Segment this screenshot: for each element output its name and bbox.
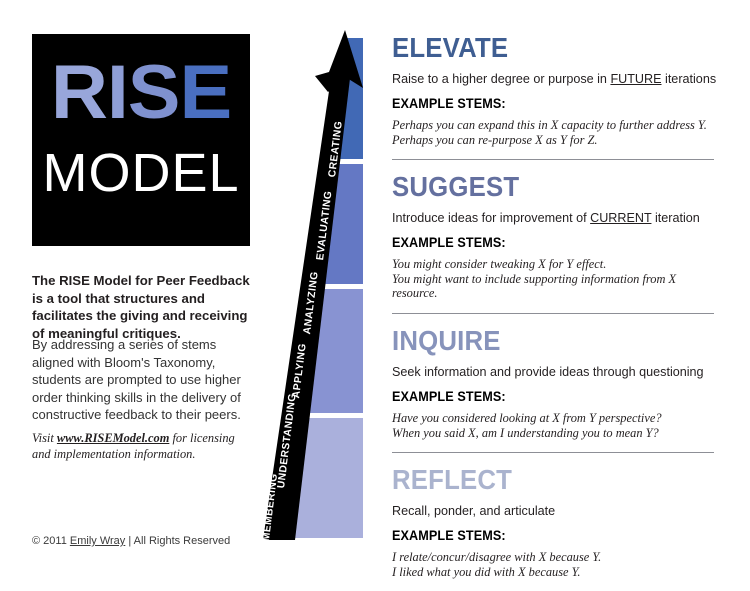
desc-before: Introduce ideas for improvement of xyxy=(392,211,590,225)
section-title: SUGGEST xyxy=(392,171,691,203)
intro-visit-line: Visit www.RISEModel.com for licensing an… xyxy=(32,430,250,462)
copyright-suffix: | All Rights Reserved xyxy=(125,535,230,547)
rise-model-website-link[interactable]: www.RISEModel.com xyxy=(57,431,169,445)
rise-model-infographic: RISE MODEL The RISE Model for Peer Feedb… xyxy=(0,0,750,580)
example-stems-heading: EXAMPLE STEMS: xyxy=(392,235,694,251)
example-stems-heading: EXAMPLE STEMS: xyxy=(392,389,694,405)
copyright-prefix: © 2011 xyxy=(32,535,70,547)
desc-before: Seek information and provide ideas throu… xyxy=(392,365,704,379)
taxonomy-graphic xyxy=(255,28,395,548)
section-reflect: REFLECT Recall, ponder, and articulate E… xyxy=(392,452,717,591)
logo-letter-r: R xyxy=(51,50,107,136)
logo-wordmark-model: MODEL xyxy=(32,142,250,204)
intro-lead-paragraph: The RISE Model for Peer Feedback is a to… xyxy=(32,272,250,342)
desc-before: Raise to a higher degree or purpose in xyxy=(392,72,610,86)
rise-sections: ELEVATE Raise to a higher degree or purp… xyxy=(392,32,717,591)
section-title: REFLECT xyxy=(392,464,691,496)
intro-body-paragraph: By addressing a series of stems aligned … xyxy=(32,336,250,424)
example-stem: Perhaps you can re-purpose X as Y for Z. xyxy=(392,133,717,148)
rise-logo: RISE MODEL xyxy=(32,34,250,246)
example-stem: I liked what you did with X because Y. xyxy=(392,565,717,580)
example-stems-heading: EXAMPLE STEMS: xyxy=(392,96,694,112)
section-elevate: ELEVATE Raise to a higher degree or purp… xyxy=(392,32,717,159)
section-title: INQUIRE xyxy=(392,325,691,357)
example-stem: You might consider tweaking X for Y effe… xyxy=(392,257,717,272)
desc-before: Recall, ponder, and articulate xyxy=(392,504,555,518)
section-description: Seek information and provide ideas throu… xyxy=(392,364,717,380)
section-suggest: SUGGEST Introduce ideas for improvement … xyxy=(392,159,717,313)
copyright-line: © 2011 Emily Wray | All Rights Reserved xyxy=(32,535,230,547)
section-description: Raise to a higher degree or purpose in F… xyxy=(392,71,717,87)
desc-emphasis: FUTURE xyxy=(610,72,661,86)
author-name: Emily Wray xyxy=(70,535,125,547)
section-title: ELEVATE xyxy=(392,32,691,64)
example-stems-heading: EXAMPLE STEMS: xyxy=(392,528,694,544)
section-description: Recall, ponder, and articulate xyxy=(392,503,717,519)
example-stems-list: Have you considered looking at X from Y … xyxy=(392,411,717,452)
desc-after: iteration xyxy=(651,211,699,225)
example-stems-list: Perhaps you can expand this in X capacit… xyxy=(392,118,717,159)
example-stems-list: You might consider tweaking X for Y effe… xyxy=(392,257,717,313)
example-stems-list: I relate/concur/disagree with X because … xyxy=(392,550,717,591)
example-stem: You might want to include supporting inf… xyxy=(392,272,717,301)
logo-letter-i: I xyxy=(107,50,128,136)
visit-prefix: Visit xyxy=(32,431,57,445)
example-stem: Perhaps you can expand this in X capacit… xyxy=(392,118,717,133)
blooms-taxonomy-arrow: CREATING EVALUATING ANALYZING APPLYING U… xyxy=(255,28,395,548)
example-stem: Have you considered looking at X from Y … xyxy=(392,411,717,426)
example-stem: I relate/concur/disagree with X because … xyxy=(392,550,717,565)
logo-letter-e: E xyxy=(179,50,231,136)
logo-wordmark-rise: RISE xyxy=(32,50,250,136)
example-stem: When you said X, am I understanding you … xyxy=(392,426,717,441)
logo-letter-s: S xyxy=(128,50,180,136)
desc-after: iterations xyxy=(662,72,717,86)
desc-emphasis: CURRENT xyxy=(590,211,651,225)
section-inquire: INQUIRE Seek information and provide ide… xyxy=(392,313,717,452)
section-description: Introduce ideas for improvement of CURRE… xyxy=(392,210,717,226)
